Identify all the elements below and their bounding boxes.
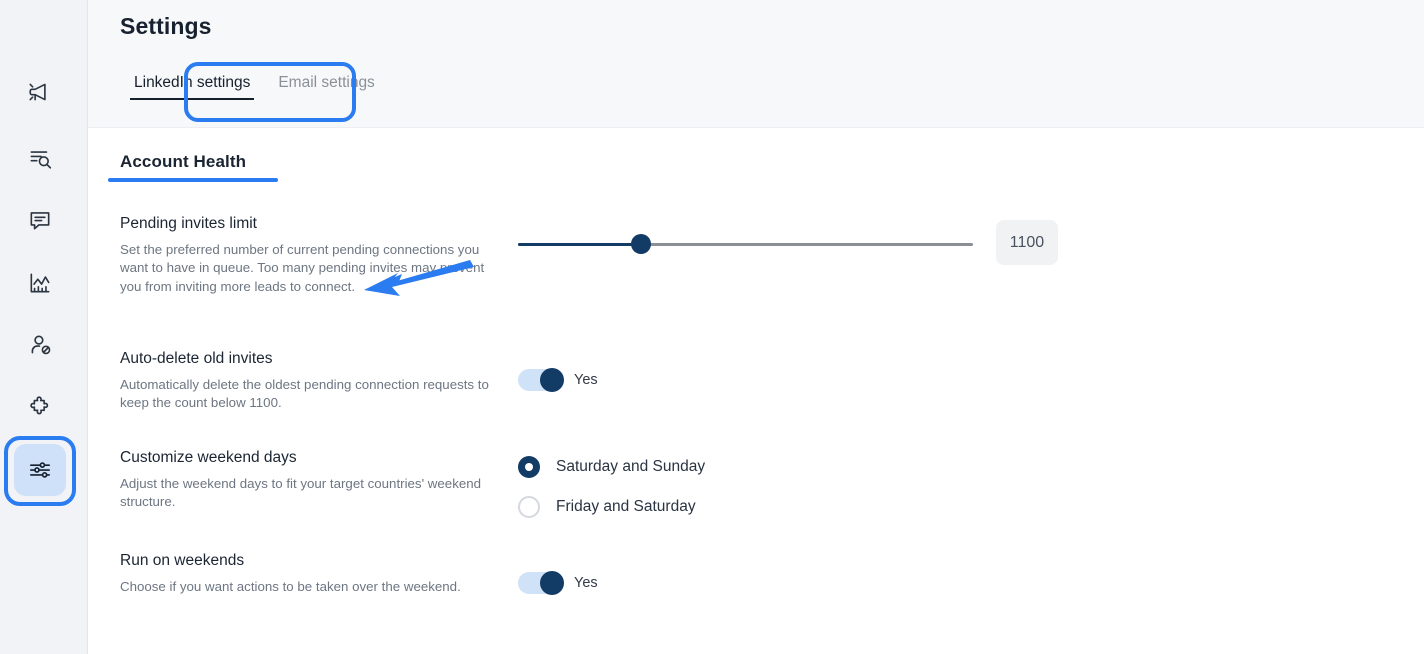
setting-description: Set the preferred number of current pend…: [120, 241, 490, 296]
section-underline: [108, 178, 278, 182]
setting-description: Automatically delete the oldest pending …: [120, 376, 490, 413]
radio-button-unselected[interactable]: [518, 496, 540, 518]
radio-label: Saturday and Sunday: [556, 458, 705, 476]
radio-option-friday-saturday[interactable]: Friday and Saturday: [518, 496, 705, 518]
setting-control: 1100: [518, 234, 973, 254]
setting-control: Yes: [518, 369, 598, 391]
pending-invites-slider[interactable]: 1100: [518, 234, 973, 254]
sidebar: [0, 0, 88, 654]
toggle-label: Yes: [574, 575, 598, 591]
puzzle-piece-icon: [27, 394, 53, 420]
run-on-weekends-toggle[interactable]: [518, 572, 562, 594]
setting-control: Saturday and Sunday Friday and Saturday: [518, 456, 705, 536]
settings-content: Account Health Pending invites limit Set…: [88, 128, 1424, 654]
chat-bubble-icon: [27, 207, 53, 233]
setting-label: Run on weekends Choose if you want actio…: [120, 551, 490, 596]
tab-bar: LinkedIn settings Email settings: [120, 68, 389, 108]
blocked-user-icon: [27, 332, 53, 358]
analytics-chart-icon: [27, 270, 53, 296]
radio-option-saturday-sunday[interactable]: Saturday and Sunday: [518, 456, 705, 478]
sidebar-item-campaigns[interactable]: [14, 66, 66, 118]
setting-title: Pending invites limit: [120, 214, 490, 234]
page-header: Settings LinkedIn settings Email setting…: [88, 0, 1424, 128]
setting-title: Auto-delete old invites: [120, 349, 490, 369]
sidebar-item-lead-search[interactable]: [14, 132, 66, 184]
slider-fill: [518, 243, 641, 246]
setting-description: Choose if you want actions to be taken o…: [120, 578, 490, 596]
page-title: Settings: [120, 13, 212, 40]
radio-dot: [525, 463, 533, 471]
sidebar-item-blacklist[interactable]: [14, 319, 66, 371]
sidebar-item-settings[interactable]: [14, 444, 66, 496]
auto-delete-toggle[interactable]: [518, 369, 562, 391]
setting-control: Yes: [518, 572, 598, 594]
radio-label: Friday and Saturday: [556, 498, 696, 516]
radio-button-selected[interactable]: [518, 456, 540, 478]
setting-label: Pending invites limit Set the preferred …: [120, 214, 490, 296]
sliders-settings-icon: [27, 457, 53, 483]
setting-label: Customize weekend days Adjust the weeken…: [120, 448, 490, 512]
settings-page: Settings LinkedIn settings Email setting…: [0, 0, 1424, 654]
setting-label: Auto-delete old invites Automatically de…: [120, 349, 490, 413]
setting-description: Adjust the weekend days to fit your targ…: [120, 475, 490, 512]
tab-linkedin-settings[interactable]: LinkedIn settings: [120, 68, 264, 108]
toggle-knob: [540, 571, 564, 595]
section-heading-account-health: Account Health: [120, 152, 246, 172]
megaphone-icon: [27, 79, 53, 105]
sidebar-item-analytics[interactable]: [14, 257, 66, 309]
toggle-label: Yes: [574, 372, 598, 388]
slider-value-box: 1100: [996, 220, 1058, 265]
toggle-knob: [540, 368, 564, 392]
sidebar-item-integrations[interactable]: [14, 381, 66, 433]
search-list-icon: [27, 145, 53, 171]
setting-title: Run on weekends: [120, 551, 490, 571]
setting-title: Customize weekend days: [120, 448, 490, 468]
slider-thumb[interactable]: [631, 234, 651, 254]
tab-email-settings[interactable]: Email settings: [264, 68, 388, 108]
sidebar-item-inbox[interactable]: [14, 194, 66, 246]
